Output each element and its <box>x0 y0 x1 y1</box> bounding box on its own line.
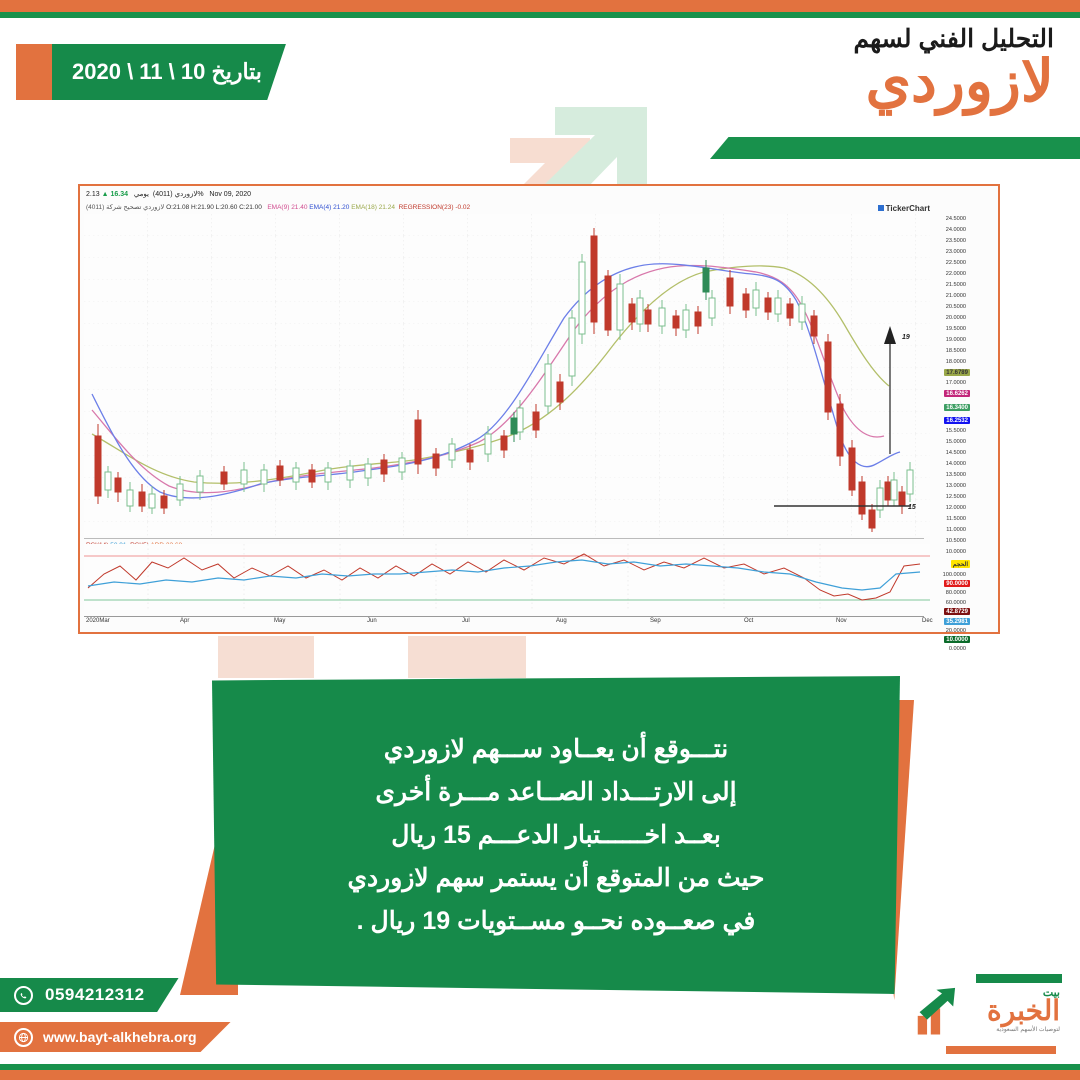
chart-period: يومي <box>134 191 149 198</box>
regression-label: REGRESSION(23) <box>399 204 454 211</box>
brand-growth-arrow-icon <box>914 986 970 1042</box>
axis-label: 22.5000 <box>946 260 966 266</box>
axis-label: 15.0000 <box>946 439 966 445</box>
analysis-line: في صعــوده نحــو مســتويات 19 ريال . <box>357 900 756 943</box>
card-top-strip-left <box>218 636 314 678</box>
axis-label: 11.5000 <box>946 516 966 522</box>
axis-highlight-ema4: 16.2532 <box>944 417 970 424</box>
x-axis-label: 2020Mar <box>86 618 110 624</box>
price-axis: 24.5000 24.0000 23.5000 23.0000 22.5000 … <box>926 214 996 610</box>
whatsapp-icon <box>14 986 33 1005</box>
ohlc-close: C:21.00 <box>239 204 262 211</box>
support-annotation-label: 15 <box>908 504 916 511</box>
brand-wordmark: بيت الخبرة لتوصيات الأسهم السعودية <box>987 988 1060 1033</box>
axis-label: 20.0000 <box>946 315 966 321</box>
x-axis: 2020Mar Apr May Jun Jul Aug Sep Oct Nov … <box>84 616 924 628</box>
axis-label: 10.5000 <box>946 538 966 544</box>
whatsapp-number: 0594212312 <box>45 985 145 1005</box>
ema18-value: 21.24 <box>379 204 395 211</box>
ohlc-high: H:21.90 <box>191 204 214 211</box>
rsi-axis-label: 0.0000 <box>949 646 966 652</box>
ema9-value: 21.40 <box>291 204 307 211</box>
page-title: التحليل الفني لسهم لازوردي <box>853 26 1054 111</box>
axis-label: 20.5000 <box>946 304 966 310</box>
price-up-arrow-icon: ▲ <box>102 191 109 198</box>
axis-highlight-ema18: 17.6789 <box>944 369 970 376</box>
x-axis-label: May <box>274 618 285 624</box>
rsi-axis-highlight-90: 90.0000 <box>944 580 970 587</box>
rsi-plot[interactable] <box>84 544 930 610</box>
rsi-axis-highlight-rsi5: 42.8729 <box>944 608 970 615</box>
analysis-line: بعــد اخــــــتبار الدعـــم 15 ريال <box>391 814 721 857</box>
axis-label: 21.0000 <box>946 293 966 299</box>
rsi-axis-highlight-10: 10.0000 <box>944 636 970 643</box>
chart-last-price: 16.34 <box>110 191 128 198</box>
rsi-axis-label: 60.0000 <box>946 600 966 606</box>
chart-container[interactable]: لازوردي (4011) يومي 16.34 ▲ 2.13% Nov 09… <box>78 184 1000 634</box>
axis-label: 13.0000 <box>946 483 966 489</box>
analysis-text: نتـــوقع أن يعــاود ســـهم لازوردي إلى ا… <box>212 676 900 994</box>
ema9-label: EMA(9) <box>267 204 289 211</box>
rsi-axis-label: 100.0000 <box>943 572 966 578</box>
page-title-line2: لازوردي <box>853 54 1054 111</box>
axis-label: 18.5000 <box>946 348 966 354</box>
brand-logo: بيت الخبرة لتوصيات الأسهم السعودية <box>912 972 1062 1058</box>
tickerchart-label: TickerChart <box>886 204 930 213</box>
ema4-value: 21.20 <box>333 204 349 211</box>
brand-top-accent <box>976 974 1062 983</box>
analysis-line: إلى الارتـــداد الصــاعد مـــرة أخرى <box>375 771 736 814</box>
x-axis-label: Jul <box>462 618 470 624</box>
axis-label: 11.0000 <box>946 527 966 533</box>
axis-label: 23.0000 <box>946 249 966 255</box>
axis-highlight-ema9: 16.6262 <box>944 390 970 397</box>
ohlc-open: O:21.08 <box>166 204 189 211</box>
x-axis-label: Apr <box>180 618 189 624</box>
x-axis-label: Oct <box>744 618 753 624</box>
axis-label: 13.5000 <box>946 472 966 478</box>
brand-line2: الخبرة <box>987 997 1060 1025</box>
chart-series-code: (4011) <box>86 204 104 211</box>
analysis-line: نتـــوقع أن يعــاود ســـهم لازوردي <box>384 728 728 771</box>
axis-label: 24.0000 <box>946 227 966 233</box>
top-orange-bar <box>0 0 1080 12</box>
axis-label: 18.0000 <box>946 359 966 365</box>
axis-label: 12.5000 <box>946 494 966 500</box>
axis-label: 17.0000 <box>946 380 966 386</box>
target-annotation-label: 19 <box>902 334 910 341</box>
chart-date: Nov 09, 2020 <box>209 191 251 198</box>
axis-label: 12.0000 <box>946 505 966 511</box>
tickerchart-square-icon <box>878 205 884 211</box>
tickerchart-logo: TickerChart <box>878 204 930 213</box>
ema18-label: EMA(18) <box>351 204 377 211</box>
website-contact[interactable]: www.bayt-alkhebra.org <box>0 1022 231 1052</box>
axis-label: 24.5000 <box>946 216 966 222</box>
chart-header-primary: لازوردي (4011) يومي 16.34 ▲ 2.13% Nov 09… <box>86 190 251 198</box>
brand-line3: لتوصيات الأسهم السعودية <box>987 1027 1060 1033</box>
axis-label: 22.0000 <box>946 271 966 277</box>
axis-label: 14.5000 <box>946 450 966 456</box>
chart-inner: لازوردي (4011) يومي 16.34 ▲ 2.13% Nov 09… <box>80 186 998 632</box>
top-green-bar <box>0 12 1080 18</box>
volume-axis-label: الحجم <box>951 560 970 568</box>
x-axis-label: Nov <box>836 618 847 624</box>
chart-header-indicators: لازوردي تصحيح شركة (4011) O:21.08 H:21.9… <box>86 203 470 211</box>
header-green-accent <box>710 137 1080 159</box>
ema4-label: EMA(4) <box>309 204 331 211</box>
date-badge: بتاريخ 10 \ 11 \ 2020 <box>52 44 286 100</box>
footer-orange-bar <box>0 1070 1080 1080</box>
axis-label: 23.5000 <box>946 238 966 244</box>
axis-label: 21.5000 <box>946 282 966 288</box>
chart-symbol-ar: لازوردي <box>175 191 198 198</box>
axis-label: 10.0000 <box>946 549 966 555</box>
axis-label: 19.5000 <box>946 326 966 332</box>
rsi-axis-label: 20.0000 <box>946 628 966 634</box>
rsi-axis-label: 80.0000 <box>946 590 966 596</box>
ohlc-low: L:20.60 <box>216 204 238 211</box>
rsi-axis-highlight-rsi14: 35.2981 <box>944 618 970 625</box>
website-url: www.bayt-alkhebra.org <box>43 1029 197 1045</box>
chart-series-ar: لازوردي تصحيح شركة <box>106 204 164 211</box>
x-axis-label: Aug <box>556 618 567 624</box>
card-top-strip-right <box>408 636 526 678</box>
poster-root: بتاريخ 10 \ 11 \ 2020 التحليل الفني لسهم… <box>0 0 1080 1080</box>
globe-icon <box>14 1028 33 1047</box>
x-axis-label: Dec <box>922 618 933 624</box>
whatsapp-contact[interactable]: 0594212312 <box>0 978 179 1012</box>
x-axis-label: Sep <box>650 618 661 624</box>
chart-symbol-code: (4011) <box>153 191 173 198</box>
axis-label: 19.0000 <box>946 337 966 343</box>
regression-value: -0.02 <box>455 204 470 211</box>
x-axis-label: Jun <box>367 618 377 624</box>
axis-label: 15.5000 <box>946 428 966 434</box>
brand-bottom-accent <box>946 1046 1056 1054</box>
price-plot[interactable] <box>84 214 930 536</box>
axis-label: 14.0000 <box>946 461 966 467</box>
axis-highlight-last: 16.3400 <box>944 404 970 411</box>
analysis-line: حيث من المتوقع أن يستمر سهم لازوردي <box>347 857 764 900</box>
panel-divider <box>84 538 924 539</box>
